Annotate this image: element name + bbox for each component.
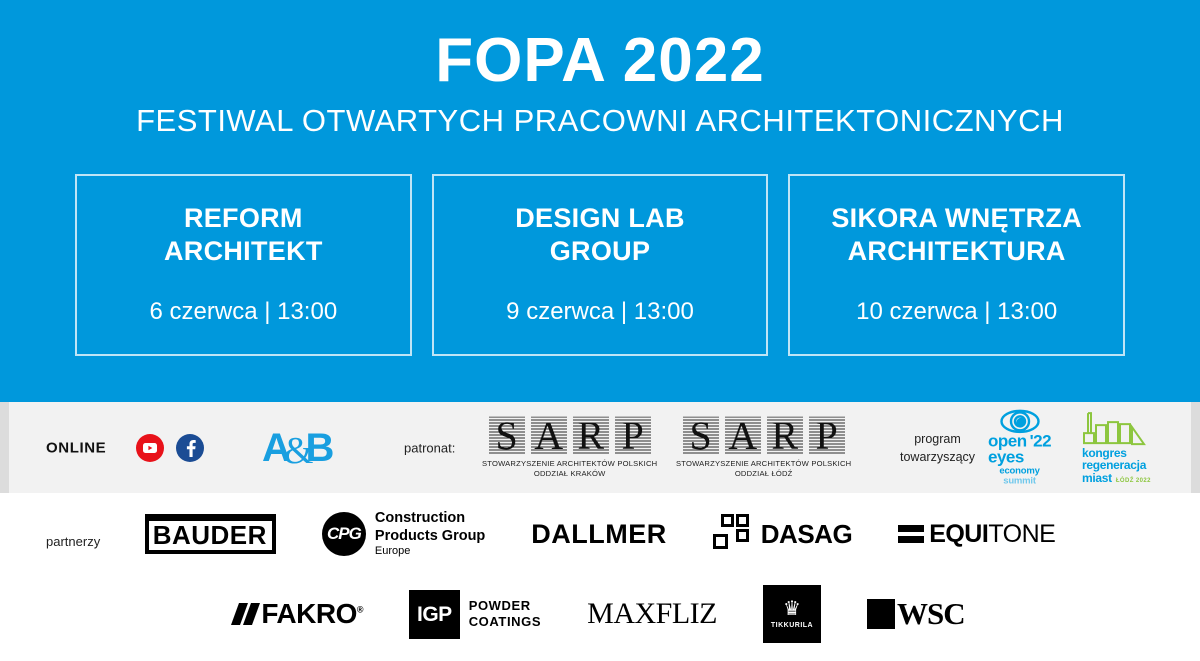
sarp-letter-p: P <box>615 416 651 454</box>
cpg-line1: Construction <box>375 510 485 527</box>
fakro-mark <box>235 603 256 625</box>
event-card-date: 9 czerwca | 13:00 <box>434 298 767 326</box>
kongres-small-text: ŁÓDŹ 2022 <box>1116 478 1151 484</box>
dasag-label: DASAG <box>761 519 852 550</box>
tikkurila-logo[interactable]: ♛ TIKKURILA <box>763 585 821 643</box>
sarp-letter-r: R <box>767 416 803 454</box>
facebook-icon[interactable] <box>176 434 204 462</box>
wsc-logo[interactable]: WSC <box>867 596 965 632</box>
event-card-title: REFORM ARCHITEKT <box>164 202 323 268</box>
equitone-label-bold: EQUI <box>929 520 988 548</box>
igp-line1: POWDER <box>469 598 541 614</box>
open-eyes-summit-logo[interactable]: open '22 eyes economy summit <box>988 409 1051 486</box>
sarp-caption: STOWARZYSZENIE ARCHITEKTÓW POLSKICH ODDZ… <box>482 458 657 479</box>
ab-logo-ampersand: & <box>284 432 313 470</box>
partner-logos: BAUDER CPG Construction Products Group E… <box>0 503 1200 645</box>
dasag-logo[interactable]: DASAG <box>713 514 852 554</box>
tikkurila-label: TIKKURILA <box>771 622 813 629</box>
equitone-label-light: TONE <box>988 520 1055 548</box>
fakro-logo[interactable]: FAKRO® <box>235 598 363 630</box>
sarp-letter-s: S <box>683 416 719 454</box>
open-eyes-line4: summit <box>1003 476 1036 486</box>
kongres-regeneracja-miast-logo[interactable]: kongres regeneracja miast ŁÓDŹ 2022 <box>1082 411 1151 485</box>
equitone-logo[interactable]: EQUITONE <box>898 520 1055 549</box>
dallmer-label: DALLMER <box>531 519 666 550</box>
youtube-icon[interactable] <box>136 434 164 462</box>
sarp-letter-p: P <box>809 416 845 454</box>
program-towarzyszacy-label: program towarzyszący <box>900 429 975 465</box>
page-subtitle: FESTIWAL OTWARTYCH PRACOWNI ARCHITEKTONI… <box>0 103 1200 139</box>
equitone-mark <box>898 525 924 543</box>
partners-band: partnerzy BAUDER CPG Construction Produc… <box>0 493 1200 661</box>
event-cards: REFORM ARCHITEKT 6 czerwca | 13:00 DESIG… <box>75 174 1125 356</box>
ab-logo[interactable]: A & B <box>262 428 333 468</box>
wsc-mark <box>867 599 895 629</box>
cpg-line2: Products Group <box>375 528 485 545</box>
page-title: FOPA 2022 <box>0 0 1200 93</box>
sarp-letter-a: A <box>725 416 761 454</box>
partner-row: BAUDER CPG Construction Products Group E… <box>0 503 1200 565</box>
sarp-caption: STOWARZYSZENIE ARCHITEKTÓW POLSKICH ODDZ… <box>676 458 851 479</box>
maxfliz-label: MAXFLIZ <box>587 597 717 631</box>
kongres-line3: miast <box>1082 472 1112 485</box>
event-card-date: 10 czerwca | 13:00 <box>790 298 1123 326</box>
patron-band: ONLINE A & B <box>0 402 1200 493</box>
maxfliz-logo[interactable]: MAXFLIZ <box>587 597 717 631</box>
dallmer-logo[interactable]: DALLMER <box>531 519 666 550</box>
igp-line2: COATINGS <box>469 614 541 630</box>
fakro-registered-icon: ® <box>357 605 363 615</box>
igp-mark: IGP <box>409 590 460 639</box>
event-card-date: 6 czerwca | 13:00 <box>77 298 410 326</box>
sarp-letter-marks: S A R P <box>683 416 845 454</box>
open-eyes-line2: eyes <box>988 450 1051 467</box>
sarp-letter-r: R <box>573 416 609 454</box>
event-card-reform-architekt[interactable]: REFORM ARCHITEKT 6 czerwca | 13:00 <box>75 174 412 356</box>
hero-section: FOPA 2022 FESTIWAL OTWARTYCH PRACOWNI AR… <box>0 0 1200 402</box>
sarp-letter-a: A <box>531 416 567 454</box>
event-card-sikora-wnetrza-architektura[interactable]: SIKORA WNĘTRZA ARCHITEKTURA 10 czerwca |… <box>788 174 1125 356</box>
poster-root: FOPA 2022 FESTIWAL OTWARTYCH PRACOWNI AR… <box>0 0 1200 661</box>
dasag-mark <box>713 514 753 554</box>
bauder-logo[interactable]: BAUDER <box>145 514 276 554</box>
event-card-title: DESIGN LAB GROUP <box>515 202 685 268</box>
cpg-logo[interactable]: CPG Construction Products Group Europe <box>322 510 485 557</box>
patronat-label: patronat: <box>404 440 455 455</box>
igp-logo[interactable]: IGP POWDER COATINGS <box>409 590 541 639</box>
event-card-title: SIKORA WNĘTRZA ARCHITEKTURA <box>831 202 1082 268</box>
crown-icon: ♛ <box>783 600 801 618</box>
wsc-label: WSC <box>897 596 965 632</box>
factory-skyline-icon <box>1082 411 1150 447</box>
fakro-label: FAKRO <box>261 598 357 629</box>
cpg-line3: Europe <box>375 545 485 558</box>
event-card-design-lab-group[interactable]: DESIGN LAB GROUP 9 czerwca | 13:00 <box>432 174 769 356</box>
bauder-label: BAUDER <box>145 521 276 554</box>
partner-row: FAKRO® IGP POWDER COATINGS MAXFLIZ ♛ TIK… <box>0 583 1200 645</box>
eye-icon <box>1000 409 1040 433</box>
sarp-lodz-logo[interactable]: S A R P STOWARZYSZENIE ARCHITEKTÓW POLSK… <box>676 416 851 479</box>
online-label: ONLINE <box>46 439 106 456</box>
open-eyes-year: '22 <box>1030 433 1051 450</box>
kongres-line1: kongres <box>1082 447 1151 460</box>
cpg-mark: CPG <box>322 512 366 556</box>
sarp-krakow-logo[interactable]: S A R P STOWARZYSZENIE ARCHITEKTÓW POLSK… <box>482 416 657 479</box>
sarp-letter-marks: S A R P <box>489 416 651 454</box>
sarp-letter-s: S <box>489 416 525 454</box>
